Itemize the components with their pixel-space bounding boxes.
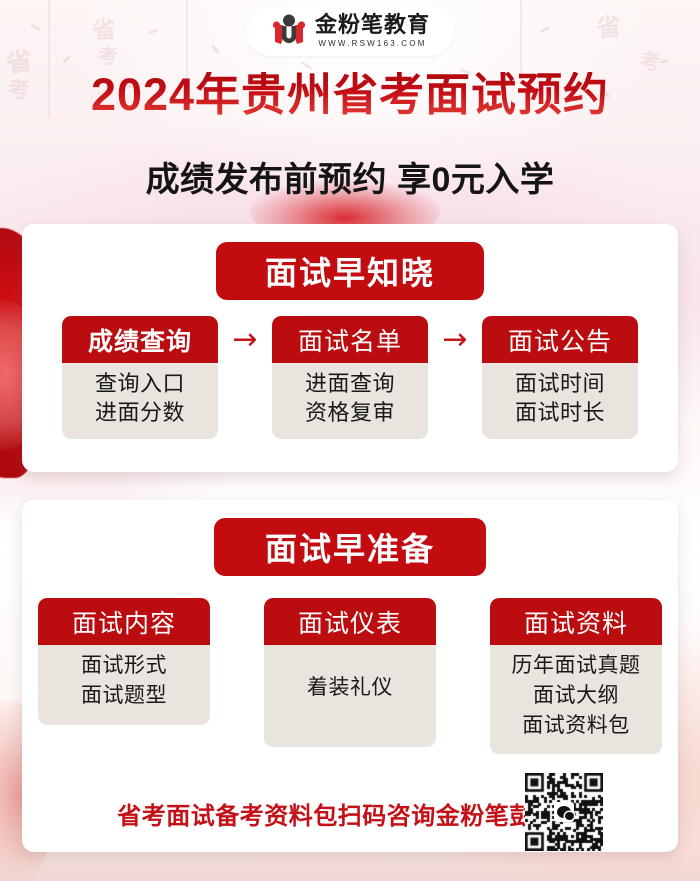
arrow-right-icon: → — [218, 326, 272, 354]
info-box-body: 查询入口 进面分数 — [62, 363, 218, 439]
qr-code-icon[interactable] — [525, 773, 603, 851]
info-box-body: 面试时间 面试时长 — [482, 363, 638, 439]
bottom-fade-decor — [0, 855, 700, 881]
info-box-interview-notice[interactable]: 面试公告 面试时间 面试时长 — [482, 316, 638, 439]
info-box-interview-list[interactable]: 面试名单 进面查询 资格复审 — [272, 316, 428, 439]
info-box-line: 面试时长 — [486, 398, 634, 427]
section-boxes-early-know: 成绩查询 查询入口 进面分数 → 面试名单 进面查询 资格复审 → 面试公告 面… — [22, 316, 678, 439]
info-box-title: 面试内容 — [38, 598, 210, 645]
poster-root: 省 考 省 考 省 考 省 考 — [0, 0, 700, 881]
info-box-title: 面试资料 — [490, 598, 662, 645]
info-box-interview-materials[interactable]: 面试资料 历年面试真题 面试大纲 面试资料包 — [490, 598, 662, 754]
info-box-line: 面试大纲 — [494, 681, 658, 711]
brand-name: 金粉笔教育 — [315, 14, 430, 36]
info-box-line: 进面分数 — [66, 398, 214, 427]
info-box-interview-appearance[interactable]: 面试仪表 着装礼仪 — [264, 598, 436, 747]
info-box-line: 面试资料包 — [494, 711, 658, 741]
info-box-score-query[interactable]: 成绩查询 查询入口 进面分数 — [62, 316, 218, 439]
cta-text: 省考面试备考资料包扫码咨询金粉笔彭老师 — [117, 796, 583, 831]
info-box-title: 面试公告 — [482, 316, 638, 363]
jinfenbi-u-logo-icon — [270, 12, 308, 50]
section-title-early-know: 面试早知晓 — [216, 242, 484, 300]
info-box-line: 历年面试真题 — [494, 651, 658, 681]
brand-website: WWW.RSW163.COM — [318, 40, 426, 48]
info-box-line: 进面查询 — [276, 369, 424, 398]
wechat-icon — [554, 802, 574, 822]
info-box-title: 面试名单 — [272, 316, 428, 363]
info-box-interview-content[interactable]: 面试内容 面试形式 面试题型 — [38, 598, 210, 725]
info-box-line: 面试时间 — [486, 369, 634, 398]
section-boxes-early-prep: 面试内容 面试形式 面试题型 面试仪表 着装礼仪 面试资料 历年面试真题 面试大… — [22, 598, 678, 754]
card-early-know: 面试早知晓 成绩查询 查询入口 进面分数 → 面试名单 进面查询 资格复审 → … — [22, 224, 678, 472]
info-box-line: 资格复审 — [276, 398, 424, 427]
info-box-body: 着装礼仪 — [264, 645, 436, 747]
info-box-line: 着装礼仪 — [268, 673, 432, 703]
info-box-title: 面试仪表 — [264, 598, 436, 645]
info-box-body: 历年面试真题 面试大纲 面试资料包 — [490, 645, 662, 754]
info-box-title: 成绩查询 — [62, 316, 218, 363]
section-title-early-prep: 面试早准备 — [214, 518, 486, 576]
info-box-line: 查询入口 — [66, 369, 214, 398]
arrow-right-icon: → — [428, 326, 482, 354]
info-box-body: 面试形式 面试题型 — [38, 645, 210, 725]
info-box-body: 进面查询 资格复审 — [272, 363, 428, 439]
info-box-line: 面试形式 — [42, 651, 206, 681]
page-subheadline: 成绩发布前预约 享0元入学 — [0, 152, 700, 201]
info-box-line: 面试题型 — [42, 681, 206, 711]
page-headline: 2024年贵州省考面试预约 — [0, 72, 700, 117]
brand-logo[interactable]: 金粉笔教育 WWW.RSW163.COM — [246, 6, 454, 56]
